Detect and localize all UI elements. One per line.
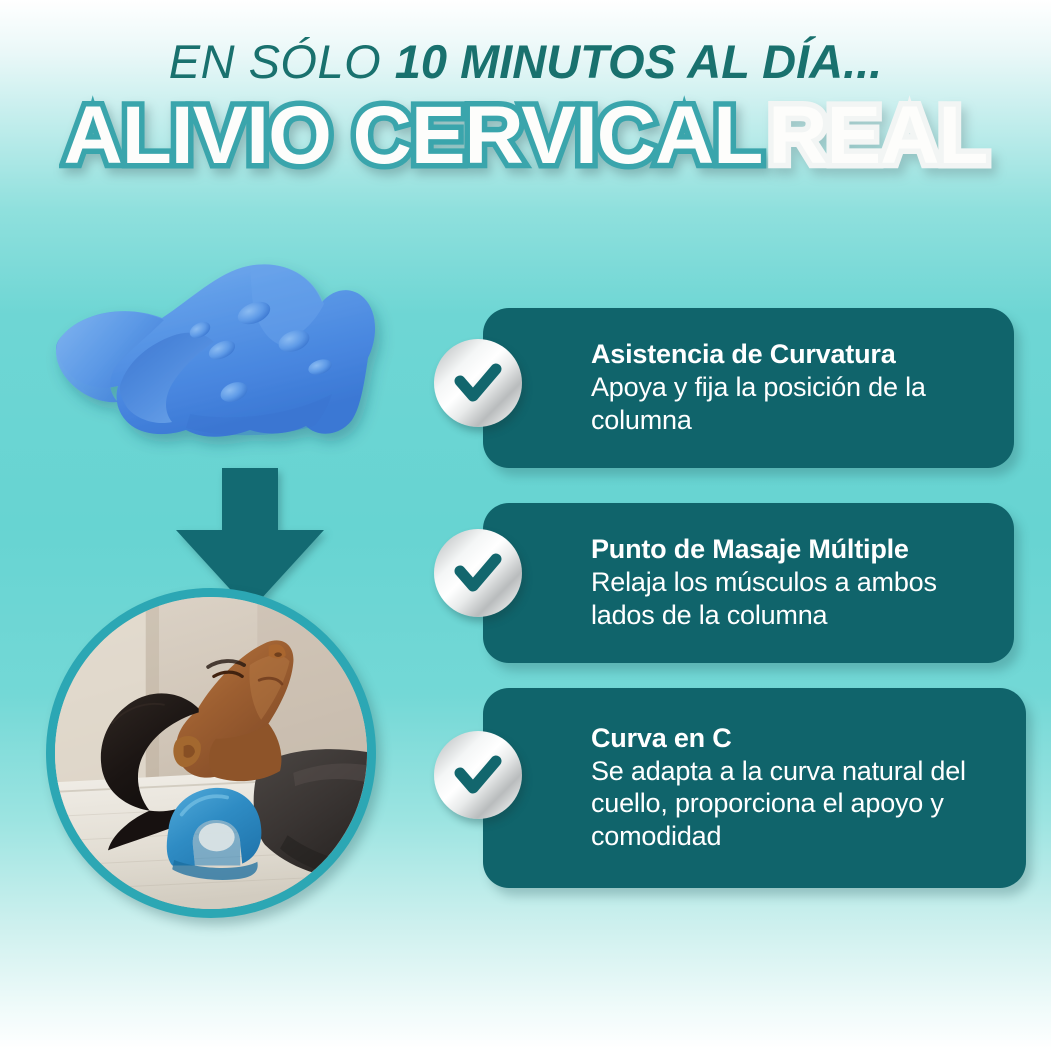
feature-title: Asistencia de Curvatura	[591, 339, 988, 371]
check-badge	[434, 339, 522, 427]
eyebrow-text: EN SÓLO 10 MINUTOS AL DÍA...	[0, 38, 1051, 85]
feature-title: Punto de Masaje Múltiple	[591, 534, 988, 566]
feature-title: Curva en C	[591, 723, 1000, 755]
title-white-segment: REAL	[768, 90, 987, 181]
eyebrow-light-text: EN SÓLO	[169, 35, 395, 88]
cervical-pillow-illustration	[22, 240, 422, 500]
infographic-canvas: EN SÓLO 10 MINUTOS AL DÍA... ALIVIO CERV…	[0, 0, 1051, 1051]
page-title: ALIVIO CERVICALREAL	[0, 95, 1051, 177]
check-icon	[448, 745, 508, 805]
check-badge	[434, 731, 522, 819]
headline-block: EN SÓLO 10 MINUTOS AL DÍA... ALIVIO CERV…	[0, 0, 1051, 177]
check-badge	[434, 529, 522, 617]
eyebrow-strong-text: 10 MINUTOS AL DÍA...	[395, 35, 883, 88]
feature-description: Se adapta a la curva natural del cuello,…	[591, 755, 1000, 854]
feature-card: Punto de Masaje Múltiple Relaja los músc…	[483, 503, 1014, 663]
product-image	[22, 240, 422, 500]
feature-description: Relaja los músculos a ambos lados de la …	[591, 566, 988, 632]
check-icon	[448, 353, 508, 413]
feature-description: Apoya y fija la posición de la columna	[591, 371, 988, 437]
photo-device-hole	[199, 823, 235, 851]
usage-photo	[46, 588, 376, 918]
person-using-pillow-photo	[55, 597, 367, 909]
photo-nostril	[274, 652, 282, 657]
check-icon	[448, 543, 508, 603]
title-teal-segment: ALIVIO CERVICAL	[64, 90, 763, 181]
feature-card: Curva en C Se adapta a la curva natural …	[483, 688, 1026, 888]
feature-card: Asistencia de Curvatura Apoya y fija la …	[483, 308, 1014, 468]
